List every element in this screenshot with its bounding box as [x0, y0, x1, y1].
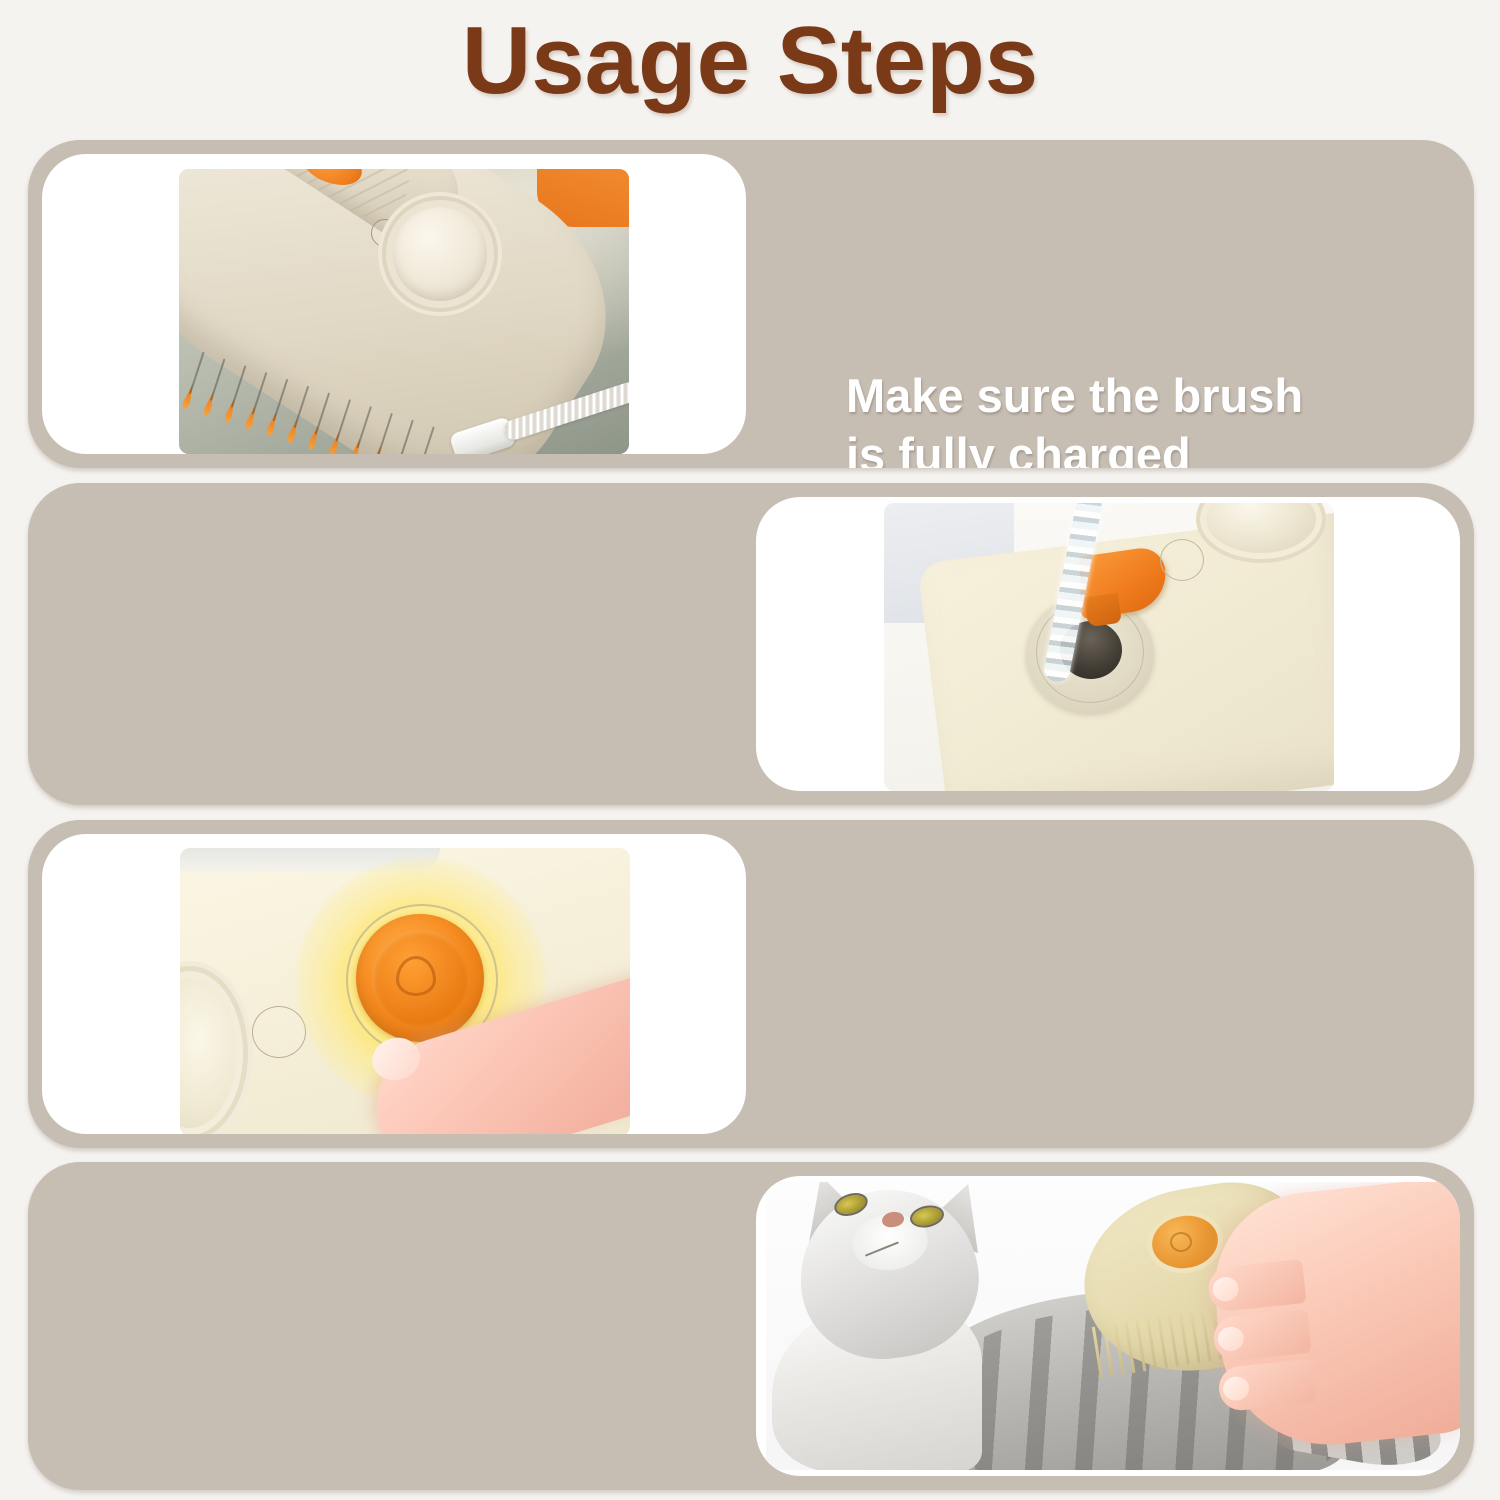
filling-water-photo: [884, 503, 1334, 791]
power-glyph-icon: [1170, 1232, 1192, 1252]
page-title: Usage Steps: [0, 4, 1500, 117]
water-tank-cap: [393, 207, 487, 301]
orange-plug-stem: [1084, 593, 1122, 627]
press-power-button-photo: [180, 848, 630, 1134]
step-card-1: Make sure the brush is fully charged: [28, 140, 1474, 468]
step-card-3: Close thelid Flip the switch: [28, 820, 1474, 1148]
step-2-photo-panel: [756, 497, 1460, 791]
step-1-caption-line-2: is fully charged: [846, 425, 1474, 468]
led-indicator-icon: [1160, 539, 1204, 581]
brush-charging-photo: [179, 169, 629, 454]
step-card-4: Start Enjoying The Pleasant Experience O…: [28, 1162, 1474, 1490]
step-3-photo-panel: [42, 834, 746, 1134]
power-glyph-icon: [396, 956, 436, 996]
grooming-cat-photo: [766, 1182, 1460, 1470]
led-indicator-icon: [252, 1006, 306, 1058]
step-4-photo-panel: [756, 1176, 1460, 1476]
water-tank-cap: [180, 978, 236, 1128]
step-1-caption-line-1: Make sure the brush: [846, 366, 1474, 425]
step-card-2: Add some warmwater/oil: [28, 483, 1474, 805]
step-1-photo-panel: [42, 154, 746, 454]
step-1-caption: Make sure the brush is fully charged: [846, 366, 1474, 468]
